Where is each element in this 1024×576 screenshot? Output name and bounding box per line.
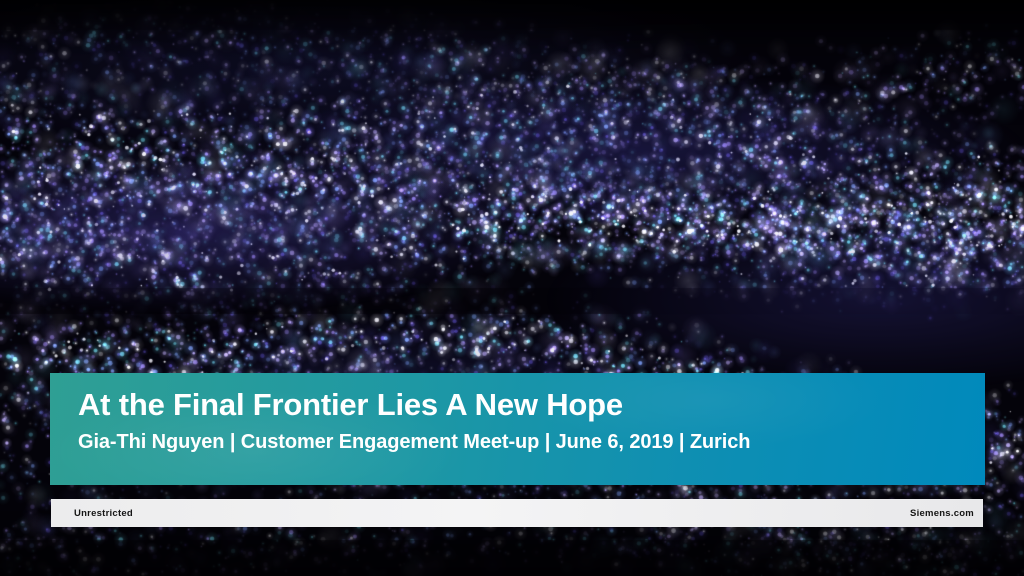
footer-bar: Unrestricted Siemens.com bbox=[51, 499, 983, 527]
background-particle-image bbox=[0, 0, 1024, 576]
website-label: Siemens.com bbox=[910, 508, 974, 519]
presentation-slide: At the Final Frontier Lies A New Hope Gi… bbox=[0, 0, 1024, 576]
particle-field-canvas bbox=[0, 0, 1024, 576]
banner-text-block: At the Final Frontier Lies A New Hope Gi… bbox=[78, 385, 969, 455]
slide-subtitle: Gia-Thi Nguyen | Customer Engagement Mee… bbox=[78, 429, 969, 455]
title-banner: At the Final Frontier Lies A New Hope Gi… bbox=[50, 373, 985, 485]
classification-label: Unrestricted bbox=[74, 508, 133, 519]
page-title: At the Final Frontier Lies A New Hope bbox=[78, 385, 969, 425]
